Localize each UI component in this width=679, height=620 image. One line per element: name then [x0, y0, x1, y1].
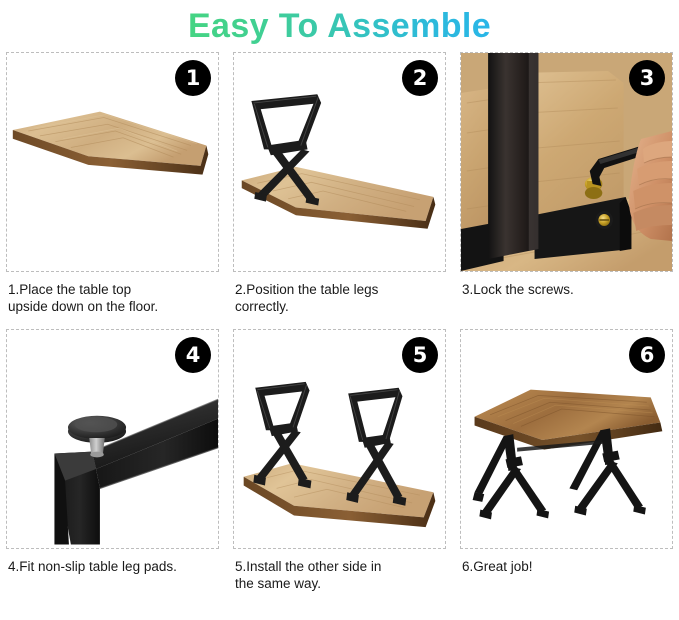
step-caption-2: 2.Position the table legs correctly. — [233, 272, 446, 329]
step-cell-5: 5 — [233, 329, 446, 606]
steps-grid: 1 — [0, 52, 679, 606]
step-badge-6: 6 — [629, 337, 665, 373]
step-caption-3: 3.Lock the screws. — [460, 272, 673, 329]
step-cell-6: 6 — [460, 329, 673, 606]
step-caption-4: 4.Fit non-slip table leg pads. — [6, 549, 219, 606]
step-badge-2: 2 — [402, 60, 438, 96]
step-badge-5: 5 — [402, 337, 438, 373]
step-cell-1: 1 — [6, 52, 219, 329]
step-caption-5: 5.Install the other side in the same way… — [233, 549, 446, 606]
step-caption-1: 1.Place the table top upside down on the… — [6, 272, 219, 329]
step-cell-2: 2 — [233, 52, 446, 329]
step-panel-5: 5 — [233, 329, 446, 549]
step-cell-4: 4 — [6, 329, 219, 606]
page-title: Easy To Assemble — [188, 7, 491, 46]
step-panel-3: 3 — [460, 52, 673, 272]
title-bar: Easy To Assemble — [0, 0, 679, 52]
step-badge-1: 1 — [175, 60, 211, 96]
step-cell-3: 3 — [460, 52, 673, 329]
step-panel-6: 6 — [460, 329, 673, 549]
step-caption-6: 6.Great job! — [460, 549, 673, 606]
step-panel-2: 2 — [233, 52, 446, 272]
step-panel-1: 1 — [6, 52, 219, 272]
step-panel-4: 4 — [6, 329, 219, 549]
step-badge-3: 3 — [629, 60, 665, 96]
step-badge-4: 4 — [175, 337, 211, 373]
